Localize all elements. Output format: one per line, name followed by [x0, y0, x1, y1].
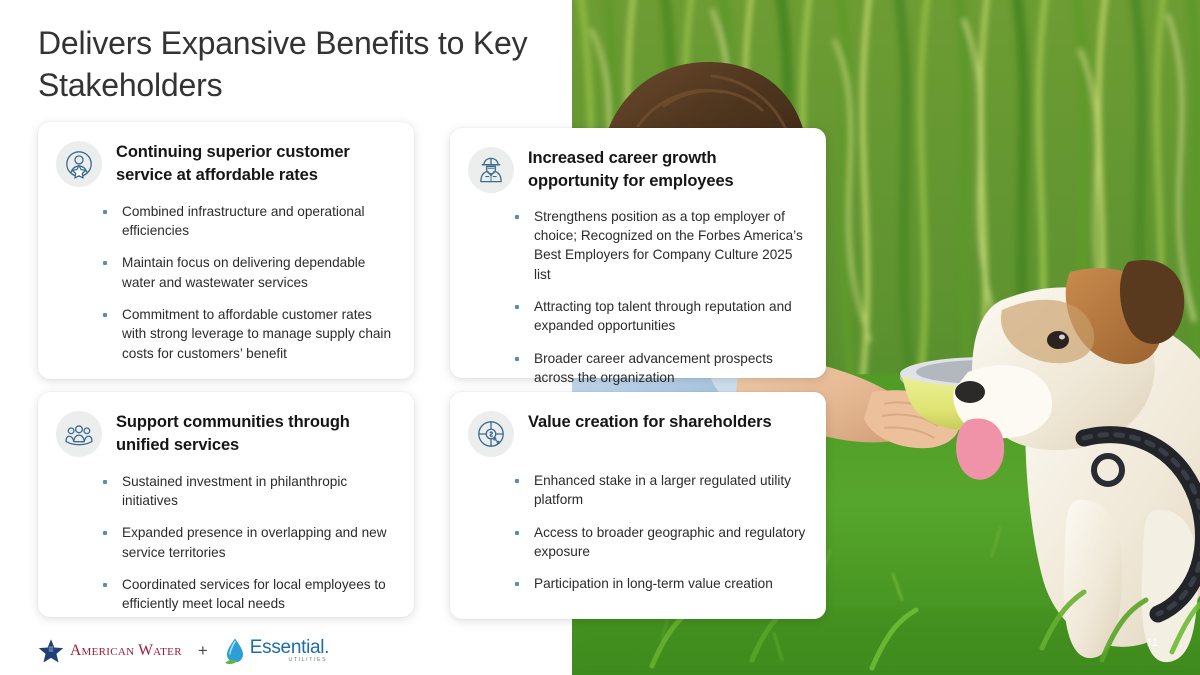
list-item: Broader career advancement prospects acr…	[512, 349, 808, 388]
list-item: Attracting top talent through reputation…	[512, 297, 808, 336]
list-item: Expanded presence in overlapping and new…	[100, 523, 396, 562]
benefit-card-increased-career-growth: Increased career growth opportunity for …	[450, 128, 826, 378]
utilities-subwordmark: UTILITIES	[289, 658, 328, 663]
water-droplet-leaf-icon	[224, 637, 246, 665]
card-header: Increased career growth opportunity for …	[468, 144, 808, 194]
worker-hardhat-icon	[468, 147, 514, 193]
card-title: Continuing superior customer service at …	[116, 138, 396, 188]
card-title: Increased career growth opportunity for …	[528, 144, 808, 194]
list-item: Coordinated services for local employees…	[100, 575, 396, 614]
benefit-card-continuing-superior-customer-service: Continuing superior customer service at …	[38, 122, 414, 379]
essential-utilities-wordmark-group: Essential. UTILITIES	[250, 638, 329, 663]
american-water-logo: American Water	[38, 638, 182, 664]
logo-separator: +	[198, 641, 208, 661]
card-header: Continuing superior customer service at …	[56, 138, 396, 188]
card-header: Value creation for shareholders	[468, 408, 808, 457]
list-item: Access to broader geographic and regulat…	[512, 523, 808, 562]
card-title: Support communities through unified serv…	[116, 408, 396, 458]
essential-wordmark: Essential.	[250, 638, 329, 657]
list-item: Commitment to affordable customer rates …	[100, 305, 396, 363]
people-group-icon	[56, 411, 102, 457]
american-water-wordmark: American Water	[70, 642, 182, 660]
card-header: Support communities through unified serv…	[56, 408, 396, 458]
list-item: Combined infrastructure and operational …	[100, 202, 396, 241]
footer-logos: American Water + Essential. UTILITIES	[38, 634, 329, 668]
essential-utilities-logo: Essential. UTILITIES	[224, 637, 329, 665]
list-item: Enhanced stake in a larger regulated uti…	[512, 471, 808, 510]
page-title: Delivers Expansive Benefits to Key Stake…	[38, 22, 558, 106]
list-item: Sustained investment in philanthropic in…	[100, 472, 396, 511]
card-bullet-list: Combined infrastructure and operational …	[56, 202, 396, 363]
pie-chart-dollar-percent-icon	[468, 411, 514, 457]
benefit-card-support-communities: Support communities through unified serv…	[38, 392, 414, 617]
list-item: Strengthens position as a top employer o…	[512, 207, 808, 284]
card-title: Value creation for shareholders	[528, 408, 772, 434]
slide: Delivers Expansive Benefits to Key Stake…	[0, 0, 1200, 675]
star-icon	[38, 638, 64, 664]
card-bullet-list: Strengthens position as a top employer o…	[468, 207, 808, 387]
card-bullet-list: Enhanced stake in a larger regulated uti…	[468, 471, 808, 593]
benefit-card-value-creation: Value creation for shareholders Enhanced…	[450, 392, 826, 619]
list-item: Participation in long-term value creatio…	[512, 574, 808, 593]
customer-star-icon	[56, 141, 102, 187]
list-item: Maintain focus on delivering dependable …	[100, 253, 396, 292]
page-number: 11	[1147, 637, 1158, 649]
card-bullet-list: Sustained investment in philanthropic in…	[56, 472, 396, 614]
